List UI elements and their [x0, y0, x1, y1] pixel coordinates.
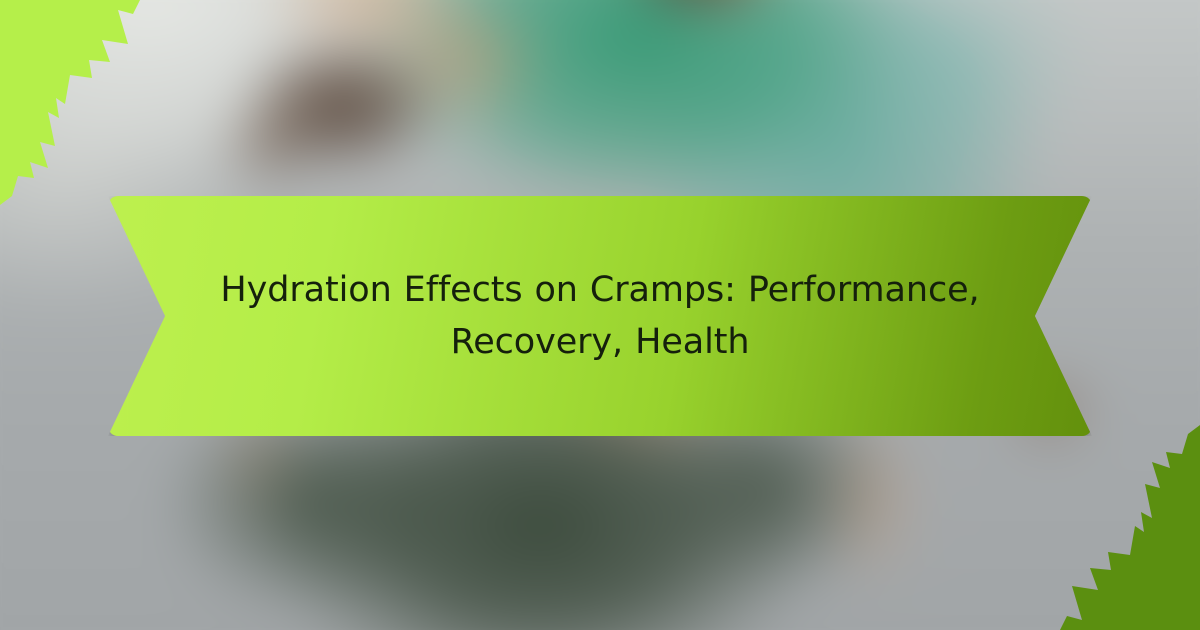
- title-banner-content: Hydration Effects on Cramps: Performance…: [108, 196, 1092, 436]
- social-card-canvas: Hydration Effects on Cramps: Performance…: [0, 0, 1200, 630]
- page-title-line-2: Recovery, Health: [451, 322, 750, 362]
- page-title-line-1: Hydration Effects on Cramps: Performance…: [220, 270, 979, 310]
- title-banner: Hydration Effects on Cramps: Performance…: [108, 196, 1092, 436]
- page-title: Hydration Effects on Cramps: Performance…: [218, 264, 982, 369]
